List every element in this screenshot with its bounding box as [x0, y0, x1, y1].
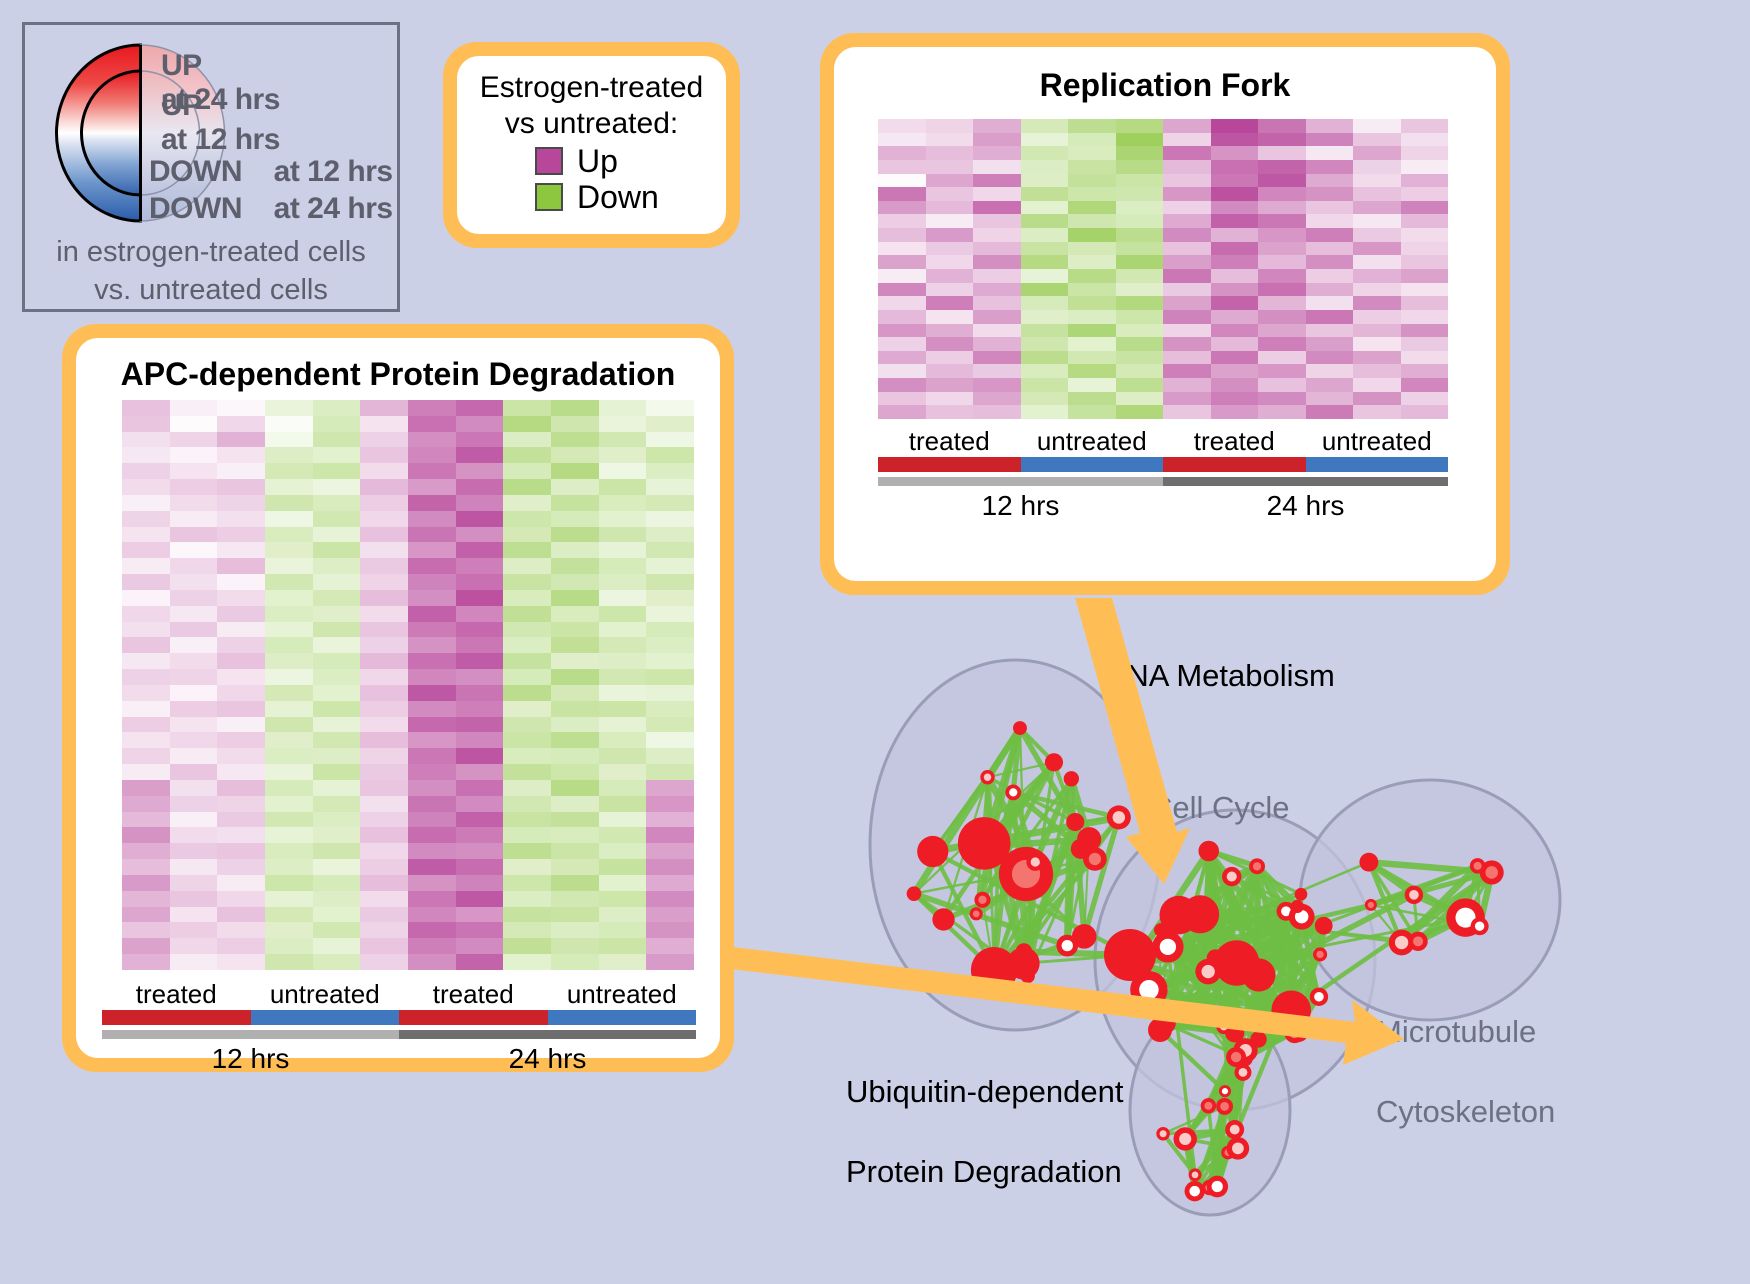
heatmap-cell	[1211, 174, 1259, 188]
heatmap-cell	[599, 669, 647, 685]
heatmap-cell	[599, 542, 647, 558]
heatmap-cell	[170, 812, 218, 828]
heatmap-cell	[1163, 174, 1211, 188]
heatmap-cell	[265, 669, 313, 685]
heatmap-cell	[646, 717, 694, 733]
heatmap-cell	[170, 653, 218, 669]
sample-group-label: treated	[399, 978, 548, 1010]
heatmap-cell	[599, 622, 647, 638]
network-node[interactable]	[1020, 969, 1034, 983]
heatmap-cell	[265, 827, 313, 843]
heatmap-cell	[170, 527, 218, 543]
network-node[interactable]	[907, 886, 922, 901]
heatmap-cell	[170, 732, 218, 748]
heatmap-cell	[1163, 283, 1211, 297]
heatmap-cell	[503, 590, 551, 606]
heatmap-cell	[1211, 214, 1259, 228]
heatmap-cell	[1116, 187, 1164, 201]
heatmap-cell	[265, 907, 313, 923]
heatmap-cell	[1068, 392, 1116, 406]
heatmap-cell	[1021, 133, 1069, 147]
heatmap-cell	[122, 701, 170, 717]
network-node[interactable]	[1198, 841, 1219, 862]
heatmap-cell	[313, 606, 361, 622]
heatmap-cell	[217, 637, 265, 653]
heatmap-cell	[360, 907, 408, 923]
network-node-core	[1231, 1052, 1241, 1062]
heatmap-cell	[1401, 405, 1449, 419]
heatmap-cell	[170, 416, 218, 432]
heatmap-cell	[551, 717, 599, 733]
network-node[interactable]	[982, 838, 998, 854]
heatmap-cell	[1163, 133, 1211, 147]
heatmap-cell	[503, 717, 551, 733]
heatmap-cell	[599, 416, 647, 432]
heatmap-cell	[408, 717, 456, 733]
heatmap-cell	[122, 732, 170, 748]
network-node-core	[1368, 902, 1374, 908]
network-node-core	[1202, 965, 1215, 978]
legend-item-down: Down	[535, 180, 726, 214]
heatmap-cell	[408, 922, 456, 938]
heatmap-cell	[646, 780, 694, 796]
sample-group-bar	[399, 1010, 548, 1025]
network-node[interactable]	[1013, 721, 1027, 735]
heatmap-cell	[1116, 269, 1164, 283]
legend-swatch-down	[535, 183, 563, 211]
heatmap-cell	[1021, 242, 1069, 256]
heatmap-cell	[973, 187, 1021, 201]
network-node[interactable]	[1016, 943, 1033, 960]
network-node[interactable]	[1291, 900, 1304, 913]
heatmap-cell	[1116, 283, 1164, 297]
heatmap-cell	[503, 907, 551, 923]
heatmap-cell	[1021, 187, 1069, 201]
heatmap-cell	[503, 495, 551, 511]
heatmap-cell	[265, 447, 313, 463]
network-node-core	[1089, 853, 1101, 865]
heatmap-cell	[1401, 296, 1449, 310]
heatmap-cell	[503, 891, 551, 907]
heatmap-cell	[646, 527, 694, 543]
heatmap-cell	[170, 685, 218, 701]
heatmap-cell	[1401, 255, 1449, 269]
heatmap-cell	[313, 859, 361, 875]
heatmap-cell	[1021, 255, 1069, 269]
heatmap-cell	[1353, 242, 1401, 256]
heatmap-cell	[170, 511, 218, 527]
heatmap-cell	[599, 875, 647, 891]
heatmap-cell	[122, 875, 170, 891]
heatmap-cell	[360, 891, 408, 907]
heatmap-cell	[1306, 146, 1354, 160]
heatmap-cell	[646, 400, 694, 416]
heatmap-cell	[1353, 364, 1401, 378]
heatmap-cell	[1353, 174, 1401, 188]
heatmap-cell	[122, 511, 170, 527]
heatmap-cell	[1068, 378, 1116, 392]
network-node-core	[1474, 862, 1482, 870]
heatmap-cell	[360, 606, 408, 622]
heatmap-cell	[1258, 324, 1306, 338]
heatmap-cell	[551, 511, 599, 527]
heatmap-cell	[265, 606, 313, 622]
heatmap-cell	[1021, 160, 1069, 174]
network-node[interactable]	[917, 836, 948, 867]
heatmap-cell	[1353, 378, 1401, 392]
heatmap-cell	[122, 574, 170, 590]
network-node-core	[1239, 1068, 1248, 1077]
key-row-1-label: UP	[161, 89, 202, 123]
heatmap-cell	[1211, 283, 1259, 297]
heatmap-cell	[1163, 214, 1211, 228]
heatmap-cell	[599, 780, 647, 796]
heatmap-cell	[503, 780, 551, 796]
heatmap-cell	[646, 827, 694, 843]
heatmap-cell	[265, 653, 313, 669]
heatmap-cell	[503, 685, 551, 701]
heatmap-cell	[926, 242, 974, 256]
heatmap-cell	[878, 283, 926, 297]
sample-group-label: untreated	[1306, 425, 1449, 457]
heatmap-cell	[551, 653, 599, 669]
heatmap-cell	[408, 432, 456, 448]
heatmap-cell	[1211, 324, 1259, 338]
heatmap-cell	[1068, 201, 1116, 215]
heatmap-cell	[1116, 364, 1164, 378]
heatmap-cell	[1068, 214, 1116, 228]
heatmap-cell	[360, 732, 408, 748]
network-node-core	[1289, 1028, 1300, 1039]
network-node-core	[1253, 862, 1261, 870]
heatmap-cell	[122, 495, 170, 511]
heatmap-cell	[360, 622, 408, 638]
heatmap-cell	[1258, 392, 1306, 406]
heatmap-cell	[122, 590, 170, 606]
heatmap-cell	[360, 558, 408, 574]
heatmap-cell	[973, 228, 1021, 242]
heatmap-cell	[1211, 255, 1259, 269]
network-node[interactable]	[1045, 753, 1063, 771]
heatmap-cell	[1068, 174, 1116, 188]
heatmap-cell	[646, 748, 694, 764]
heatmap-cell	[313, 780, 361, 796]
heatmap-cell	[599, 859, 647, 875]
heatmap-cell	[456, 432, 504, 448]
heatmap-cell	[217, 701, 265, 717]
heatmap-cell	[1116, 310, 1164, 324]
heatmap-cell	[456, 511, 504, 527]
heatmap-cell	[878, 296, 926, 310]
heatmap-cell	[1116, 160, 1164, 174]
heatmap-cell	[973, 283, 1021, 297]
heatmap-cell	[878, 201, 926, 215]
color-key-footer: in estrogen-treated cells vs. untreated …	[25, 233, 397, 309]
heatmap-cell	[1401, 392, 1449, 406]
network-node[interactable]	[1148, 1018, 1172, 1042]
heatmap-cell	[456, 447, 504, 463]
heatmap-cell	[170, 637, 218, 653]
heatmap-cell	[926, 214, 974, 228]
heatmap-cell	[1353, 296, 1401, 310]
heatmap-cell	[265, 495, 313, 511]
time-group-label: 12 hrs	[102, 1039, 399, 1079]
heatmap-cell	[265, 479, 313, 495]
heatmap-cell	[122, 843, 170, 859]
heatmap-cell	[456, 732, 504, 748]
heatmap-cell	[599, 938, 647, 954]
heatmap-cell	[170, 447, 218, 463]
heatmap-cell	[646, 669, 694, 685]
heatmap-cell	[217, 812, 265, 828]
heatmap-cell	[217, 606, 265, 622]
heatmap-cell	[646, 479, 694, 495]
heatmap-cell	[217, 796, 265, 812]
heatmap-cell	[551, 843, 599, 859]
heatmap-cell	[646, 954, 694, 970]
network-node[interactable]	[1295, 888, 1308, 901]
heatmap-cell	[1258, 119, 1306, 133]
heatmap-cell	[646, 653, 694, 669]
heatmap-cell	[1021, 364, 1069, 378]
heatmap-cell	[360, 954, 408, 970]
heatmap-cell	[599, 432, 647, 448]
heatmap-cell	[1258, 187, 1306, 201]
heatmap-cell	[878, 392, 926, 406]
heatmap-cell	[170, 606, 218, 622]
heatmap-cell	[217, 495, 265, 511]
heatmap-cell	[1401, 310, 1449, 324]
heatmap-cell	[878, 133, 926, 147]
heatmap-cell	[122, 479, 170, 495]
heatmap-cell	[1068, 364, 1116, 378]
heatmap-cell	[408, 463, 456, 479]
heatmap-cell	[551, 542, 599, 558]
network-node[interactable]	[1359, 853, 1378, 872]
heatmap-cell	[217, 479, 265, 495]
heatmap-cell	[878, 214, 926, 228]
heatmap-cell	[1401, 187, 1449, 201]
heatmap-cell	[456, 574, 504, 590]
heatmap-cell	[265, 732, 313, 748]
heatmap-cell	[1116, 255, 1164, 269]
heatmap-cell	[1068, 160, 1116, 174]
time-group-label: 12 hrs	[878, 486, 1163, 526]
heatmap-cell	[973, 296, 1021, 310]
heatmap-cell	[265, 463, 313, 479]
network-node[interactable]	[1154, 923, 1168, 937]
heatmap-cell	[408, 827, 456, 843]
heatmap-cell	[265, 859, 313, 875]
heatmap-cell	[408, 590, 456, 606]
network-node[interactable]	[1315, 917, 1333, 935]
network-node-core	[1113, 811, 1126, 824]
heatmap-cell	[646, 764, 694, 780]
heatmap-cell	[926, 310, 974, 324]
heatmap-cell	[170, 954, 218, 970]
heatmap-cell	[1401, 283, 1449, 297]
heatmap-cell	[408, 780, 456, 796]
network-node-core	[1031, 857, 1040, 866]
heatmap-cell	[313, 542, 361, 558]
heatmap-cell	[456, 558, 504, 574]
heatmap-cell	[926, 255, 974, 269]
heatmap-cell	[1021, 174, 1069, 188]
heatmap-cell	[503, 875, 551, 891]
heatmap-cell	[265, 748, 313, 764]
heatmap-cell	[1211, 269, 1259, 283]
heatmap-cell	[360, 875, 408, 891]
heatmap-cell	[878, 310, 926, 324]
heatmap-cell	[1401, 324, 1449, 338]
time-group-bar	[102, 1030, 399, 1039]
heatmap-cell	[456, 748, 504, 764]
heatmap-cell	[973, 201, 1021, 215]
heatmap-cell	[1068, 283, 1116, 297]
heatmap-cell	[973, 146, 1021, 160]
heatmap-cell	[878, 337, 926, 351]
heatmap-cell	[170, 843, 218, 859]
legend-title: Estrogen-treated vs untreated:	[457, 70, 726, 142]
heatmap-cell	[265, 574, 313, 590]
heatmap-cell	[122, 907, 170, 923]
heatmap-cell	[503, 669, 551, 685]
heatmap-cell	[122, 954, 170, 970]
heatmap-cell	[1163, 364, 1211, 378]
heatmap-cell	[360, 701, 408, 717]
heatmap-cell	[217, 400, 265, 416]
heatmap-cell	[360, 447, 408, 463]
heatmap-cell	[360, 463, 408, 479]
heatmap-cell	[1163, 351, 1211, 365]
heatmap-cell	[313, 796, 361, 812]
heatmap-cell	[973, 364, 1021, 378]
heatmap-cell	[503, 606, 551, 622]
heatmap-cell	[503, 447, 551, 463]
heatmap-cell	[646, 622, 694, 638]
heatmap-cell	[360, 685, 408, 701]
heatmap-cell	[170, 622, 218, 638]
heatmap-cell	[503, 511, 551, 527]
heatmap-cell	[265, 685, 313, 701]
heatmap-cell	[1068, 310, 1116, 324]
heatmap-cell	[878, 228, 926, 242]
heatmap-cell	[551, 400, 599, 416]
heatmap-cell	[551, 812, 599, 828]
heatmap-cell	[1163, 160, 1211, 174]
network-node-core	[1227, 872, 1237, 882]
heatmap-cell	[1353, 214, 1401, 228]
heatmap-cell	[408, 669, 456, 685]
heatmap-cell	[265, 416, 313, 432]
network-node-core	[1212, 1181, 1223, 1192]
heatmap-cell	[265, 954, 313, 970]
network-node[interactable]	[1242, 958, 1275, 991]
heatmap-cell	[1258, 310, 1306, 324]
heatmap-cell	[122, 606, 170, 622]
heatmap-cell	[313, 717, 361, 733]
heatmap-cell	[646, 606, 694, 622]
heatmap-cell	[1353, 324, 1401, 338]
sample-group-label: untreated	[548, 978, 697, 1010]
color-key-footer-line1: in estrogen-treated cells	[25, 233, 397, 271]
heatmap-cell	[265, 701, 313, 717]
heatmap-cell	[408, 764, 456, 780]
heatmap-cell	[551, 954, 599, 970]
network-node-core	[1475, 921, 1484, 930]
network-node[interactable]	[932, 908, 954, 930]
heatmap-cell	[878, 119, 926, 133]
heatmap-cell	[503, 653, 551, 669]
heatmap-cell	[926, 119, 974, 133]
network-node-core	[1395, 936, 1408, 949]
heatmap-cell	[1116, 337, 1164, 351]
heatmap-cell	[313, 574, 361, 590]
heatmap-cell	[313, 479, 361, 495]
heatmap-cell	[973, 310, 1021, 324]
heatmap-cell	[551, 875, 599, 891]
heatmap-cell	[1306, 364, 1354, 378]
heatmap-cell	[456, 875, 504, 891]
heatmap-cell	[170, 463, 218, 479]
heatmap-cell	[646, 495, 694, 511]
heatmap-cell	[313, 400, 361, 416]
network-node[interactable]	[1104, 929, 1156, 981]
heatmap-cell	[646, 907, 694, 923]
network-node[interactable]	[1066, 813, 1084, 831]
heatmap-cell	[1353, 283, 1401, 297]
heatmap-cell	[926, 351, 974, 365]
heatmap-cell	[1306, 351, 1354, 365]
heatmap-cell	[1353, 405, 1401, 419]
heatmap-cell	[408, 796, 456, 812]
network-node-core	[1222, 1088, 1228, 1094]
heatmap-cell	[360, 527, 408, 543]
network-node[interactable]	[1064, 771, 1079, 786]
heatmap-cell	[217, 542, 265, 558]
heatmap-cell	[878, 324, 926, 338]
heatmap-cell	[265, 922, 313, 938]
heatmap-cell	[926, 324, 974, 338]
heatmap-cell	[456, 685, 504, 701]
cluster-label-microtubule-line2: Cytoskeleton	[1376, 1094, 1555, 1129]
heatmap-cell	[408, 574, 456, 590]
heatmap-cell	[1021, 392, 1069, 406]
network-node[interactable]	[1280, 997, 1295, 1012]
heatmap-cell	[456, 653, 504, 669]
heatmap-cell	[878, 242, 926, 256]
heatmap-cell	[408, 558, 456, 574]
cluster-label-microtubule-cytoskeleton: Microtubule Cytoskeleton	[1376, 972, 1555, 1132]
heatmap-cell	[1211, 160, 1259, 174]
heatmap-cell	[360, 637, 408, 653]
heatmap-cell	[973, 119, 1021, 133]
heatmap-cell	[170, 891, 218, 907]
heatmap-cell	[265, 938, 313, 954]
heatmap-cell	[599, 922, 647, 938]
network-node[interactable]	[1207, 949, 1224, 966]
heatmap-cell	[1258, 405, 1306, 419]
heatmap-cell	[313, 685, 361, 701]
heatmap-cell	[1211, 187, 1259, 201]
heatmap-cell	[599, 764, 647, 780]
heatmap-cell	[1353, 337, 1401, 351]
heatmap-cell	[265, 843, 313, 859]
heatmap-cell	[599, 558, 647, 574]
heatmap-cell	[313, 558, 361, 574]
heatmap-cell	[503, 938, 551, 954]
heatmap-cell	[122, 558, 170, 574]
